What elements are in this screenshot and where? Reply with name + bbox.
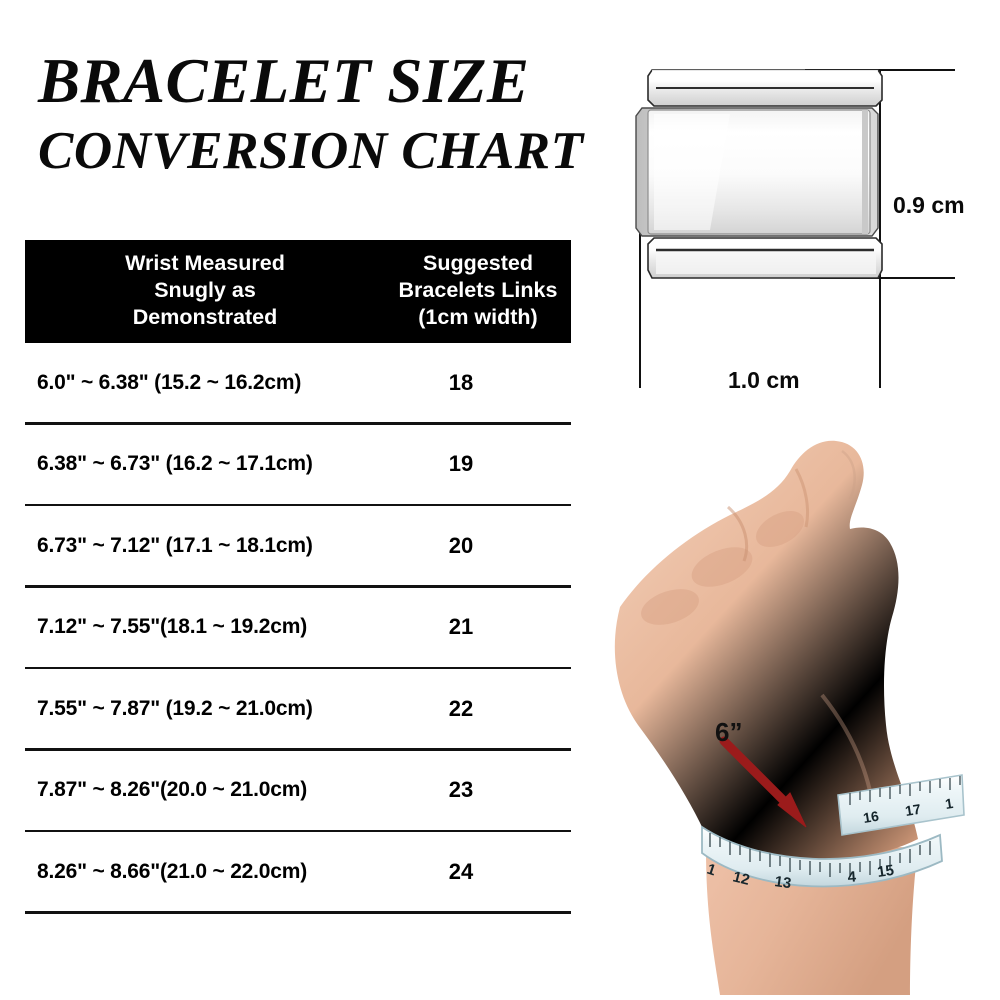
table-row: 6.73" ~ 7.12" (17.1 ~ 18.1cm)20 bbox=[25, 506, 571, 585]
svg-text:17: 17 bbox=[904, 801, 922, 819]
title-line-secondary: CONVERSION CHART bbox=[38, 120, 598, 182]
column-header-links: Suggested Bracelets Links (1cm width) bbox=[385, 250, 571, 331]
table-row: 6.38" ~ 6.73" (16.2 ~ 17.1cm)19 bbox=[25, 425, 571, 504]
cell-links-count: 20 bbox=[409, 533, 571, 559]
cell-links-count: 23 bbox=[409, 777, 571, 803]
link-height-label: 0.9 cm bbox=[893, 192, 965, 219]
wrist-size-label: 6” bbox=[715, 717, 742, 748]
column-header-wrist-line2: Snugly as bbox=[25, 277, 385, 304]
table-header-row: Wrist Measured Snugly as Demonstrated Su… bbox=[25, 240, 571, 343]
table-row: 7.12" ~ 7.55"(18.1 ~ 19.2cm)21 bbox=[25, 588, 571, 667]
link-bottom-rail bbox=[648, 238, 882, 278]
table-row: 6.0" ~ 6.38" (15.2 ~ 16.2cm)18 bbox=[25, 343, 571, 422]
table-row: 7.55" ~ 7.87" (19.2 ~ 21.0cm)22 bbox=[25, 669, 571, 748]
cell-links-count: 19 bbox=[409, 451, 571, 477]
cell-wrist-range: 7.55" ~ 7.87" (19.2 ~ 21.0cm) bbox=[25, 697, 409, 721]
cell-wrist-range: 7.12" ~ 7.55"(18.1 ~ 19.2cm) bbox=[25, 615, 409, 639]
link-top-rail bbox=[648, 70, 882, 106]
link-width-label: 1.0 cm bbox=[728, 367, 800, 394]
cell-wrist-range: 6.73" ~ 7.12" (17.1 ~ 18.1cm) bbox=[25, 534, 409, 558]
column-header-wrist-line1: Wrist Measured bbox=[25, 250, 385, 277]
cell-links-count: 18 bbox=[409, 370, 571, 396]
column-header-wrist: Wrist Measured Snugly as Demonstrated bbox=[25, 250, 385, 331]
cell-wrist-range: 8.26" ~ 8.66"(21.0 ~ 22.0cm) bbox=[25, 860, 409, 884]
table-row: 7.87" ~ 8.26"(20.0 ~ 21.0cm)23 bbox=[25, 751, 571, 830]
cell-wrist-range: 6.38" ~ 6.73" (16.2 ~ 17.1cm) bbox=[25, 452, 409, 476]
column-header-links-line3: (1cm width) bbox=[385, 304, 571, 331]
cell-wrist-range: 7.87" ~ 8.26"(20.0 ~ 21.0cm) bbox=[25, 778, 409, 802]
cell-wrist-range: 6.0" ~ 6.38" (15.2 ~ 16.2cm) bbox=[25, 371, 409, 395]
column-header-wrist-line3: Demonstrated bbox=[25, 304, 385, 331]
bracelet-link-diagram: 0.9 cm 1.0 cm bbox=[610, 40, 1000, 390]
page-title: BRACELET SIZE CONVERSION CHART bbox=[38, 48, 598, 182]
wrist-measurement-photo: 16 17 1 1 bbox=[610, 395, 1000, 995]
column-header-links-line2: Bracelets Links bbox=[385, 277, 571, 304]
cell-links-count: 21 bbox=[409, 614, 571, 640]
svg-text:15: 15 bbox=[876, 862, 895, 881]
cell-links-count: 24 bbox=[409, 859, 571, 885]
link-face bbox=[636, 108, 878, 236]
title-line-primary: BRACELET SIZE bbox=[38, 48, 598, 114]
svg-text:16: 16 bbox=[862, 808, 880, 826]
svg-text:13: 13 bbox=[773, 873, 792, 892]
bracelet-size-table: Wrist Measured Snugly as Demonstrated Su… bbox=[25, 240, 571, 914]
cell-links-count: 22 bbox=[409, 696, 571, 722]
table-row: 8.26" ~ 8.66"(21.0 ~ 22.0cm)24 bbox=[25, 832, 571, 911]
table-body: 6.0" ~ 6.38" (15.2 ~ 16.2cm)186.38" ~ 6.… bbox=[25, 343, 571, 914]
column-header-links-line1: Suggested bbox=[385, 250, 571, 277]
row-divider bbox=[25, 911, 571, 914]
hand-with-tape-measure-icon: 16 17 1 1 bbox=[610, 395, 1000, 995]
